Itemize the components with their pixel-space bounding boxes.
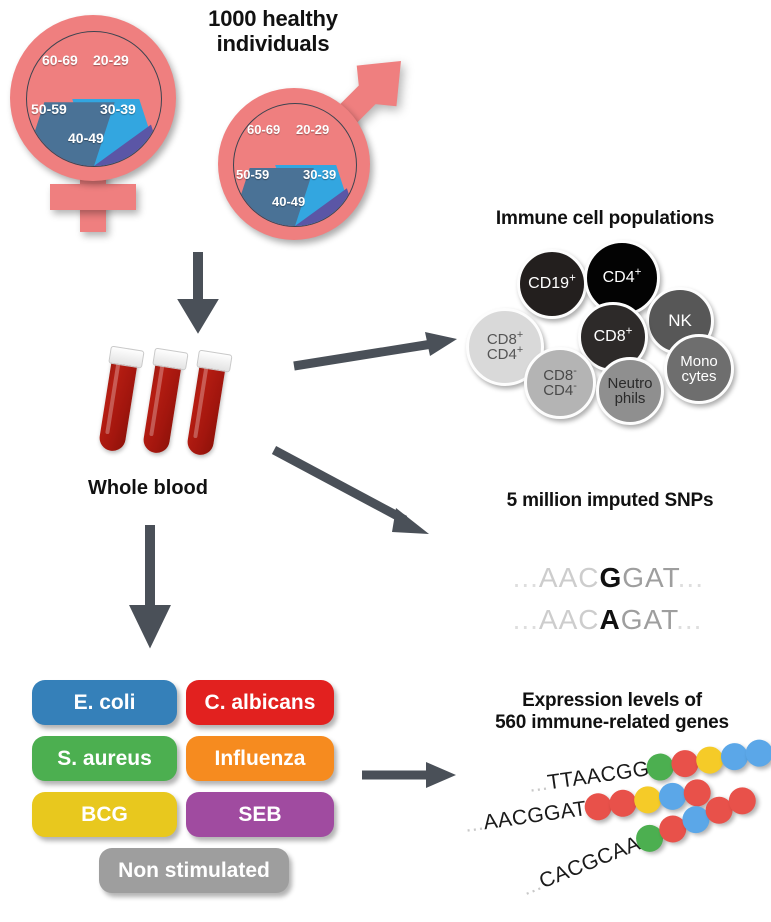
- page-title: 1000 healthy individuals: [178, 6, 368, 57]
- pie-label-60-69: 60-69: [247, 122, 280, 137]
- cell-label-cytes: cytes: [681, 369, 716, 384]
- expression-heading-line2: 560 immune-related genes: [462, 712, 762, 734]
- pie-label-50-59: 50-59: [31, 101, 67, 117]
- gene-strand-group: ...TTAACGG ...AACGGAT ...CACGCAA: [455, 740, 771, 920]
- pie-label-40-49: 40-49: [68, 130, 104, 146]
- stimulus-non-stimulated[interactable]: Non stimulated: [99, 848, 289, 893]
- immune-cell-neutrophils: Neutro phils: [596, 357, 664, 425]
- male-symbol: 20-29 30-39 40-49 50-59 60-69: [206, 60, 426, 250]
- immune-cell-monocytes: Mono cytes: [664, 334, 734, 404]
- pie-label-40-49: 40-49: [272, 194, 305, 209]
- cell-label-cd8n: CD8-: [543, 368, 577, 383]
- snps-heading: 5 million imputed SNPs: [470, 490, 750, 512]
- cell-label-neutro: Neutro: [607, 376, 652, 391]
- gene-strand-3-sequence: ...CACGCAA: [519, 831, 644, 900]
- snp-dots-left: ...: [513, 604, 539, 635]
- page-title-line2: individuals: [178, 31, 368, 56]
- stimulus-c-albicans[interactable]: C. albicans: [186, 680, 334, 725]
- cell-label-cd4p: CD4+: [487, 347, 523, 362]
- arrow-blood-to-snps: [272, 448, 462, 548]
- gene-strand-2-sequence: ...AACGGAT: [463, 797, 588, 838]
- cell-label-cd8p: CD8+: [594, 329, 633, 345]
- stimulus-influenza[interactable]: Influenza: [186, 736, 334, 781]
- pie-label-50-59: 50-59: [236, 167, 269, 182]
- snp-sequence-line-2: ...AACAGAT...: [495, 572, 702, 636]
- cell-label-cd4p: CD4+: [603, 270, 642, 286]
- stimulus-bcg[interactable]: BCG: [32, 792, 177, 837]
- snp-prefix: AAC: [539, 604, 600, 635]
- arrow-blood-to-immune-cells: [292, 330, 472, 380]
- arrow-cohort-to-blood: [178, 252, 222, 332]
- gene-strand-3-bases: CACGCAA: [536, 831, 644, 892]
- female-symbol: 20-29 30-39 40-49 50-59 60-69: [10, 12, 190, 237]
- snp-suffix: GAT: [621, 604, 676, 635]
- pie-label-30-39: 30-39: [100, 101, 136, 117]
- pie-label-60-69: 60-69: [42, 52, 78, 68]
- gene-strand-2-bases: AACGGAT: [482, 797, 588, 834]
- gene-bead: [607, 788, 637, 818]
- stimulus-seb[interactable]: SEB: [186, 792, 334, 837]
- page-title-line1: 1000 healthy: [178, 6, 368, 31]
- whole-blood-tubes: [110, 340, 260, 460]
- immune-cell-cd19p: CD19+: [517, 249, 587, 319]
- immune-cell-cluster: CD8+ CD4+ CD19+ CD4+ NK CD8+ CD8- CD4- N…: [466, 240, 766, 430]
- snp-variant-allele: A: [599, 604, 620, 635]
- cell-label-cd19p: CD19+: [528, 276, 576, 292]
- female-symbol-stem-cross: [50, 184, 136, 210]
- immune-cell-populations-heading: Immune cell populations: [455, 208, 755, 230]
- pie-label-20-29: 20-29: [93, 52, 129, 68]
- pie-label-30-39: 30-39: [303, 167, 336, 182]
- immune-cell-cd8n-cd4n: CD8- CD4-: [524, 347, 596, 419]
- cell-label-mono: Mono: [680, 354, 718, 369]
- arrow-blood-to-stimuli: [130, 525, 174, 645]
- cell-label-phils: phils: [615, 391, 646, 406]
- stimulus-s-aureus[interactable]: S. aureus: [32, 736, 177, 781]
- arrow-stimuli-to-expression: [360, 760, 470, 794]
- gene-bead: [744, 738, 771, 768]
- expression-heading-line1: Expression levels of: [462, 690, 762, 712]
- expression-heading: Expression levels of 560 immune-related …: [462, 690, 762, 734]
- gene-bead: [657, 781, 687, 811]
- snp-dots-right: ...: [676, 604, 702, 635]
- gene-bead: [632, 785, 662, 815]
- stimulus-e-coli[interactable]: E. coli: [32, 680, 177, 725]
- cell-label-nk: NK: [668, 312, 692, 329]
- pie-label-20-29: 20-29: [296, 122, 329, 137]
- whole-blood-label: Whole blood: [88, 477, 208, 500]
- cell-label-cd4n: CD4-: [543, 383, 577, 398]
